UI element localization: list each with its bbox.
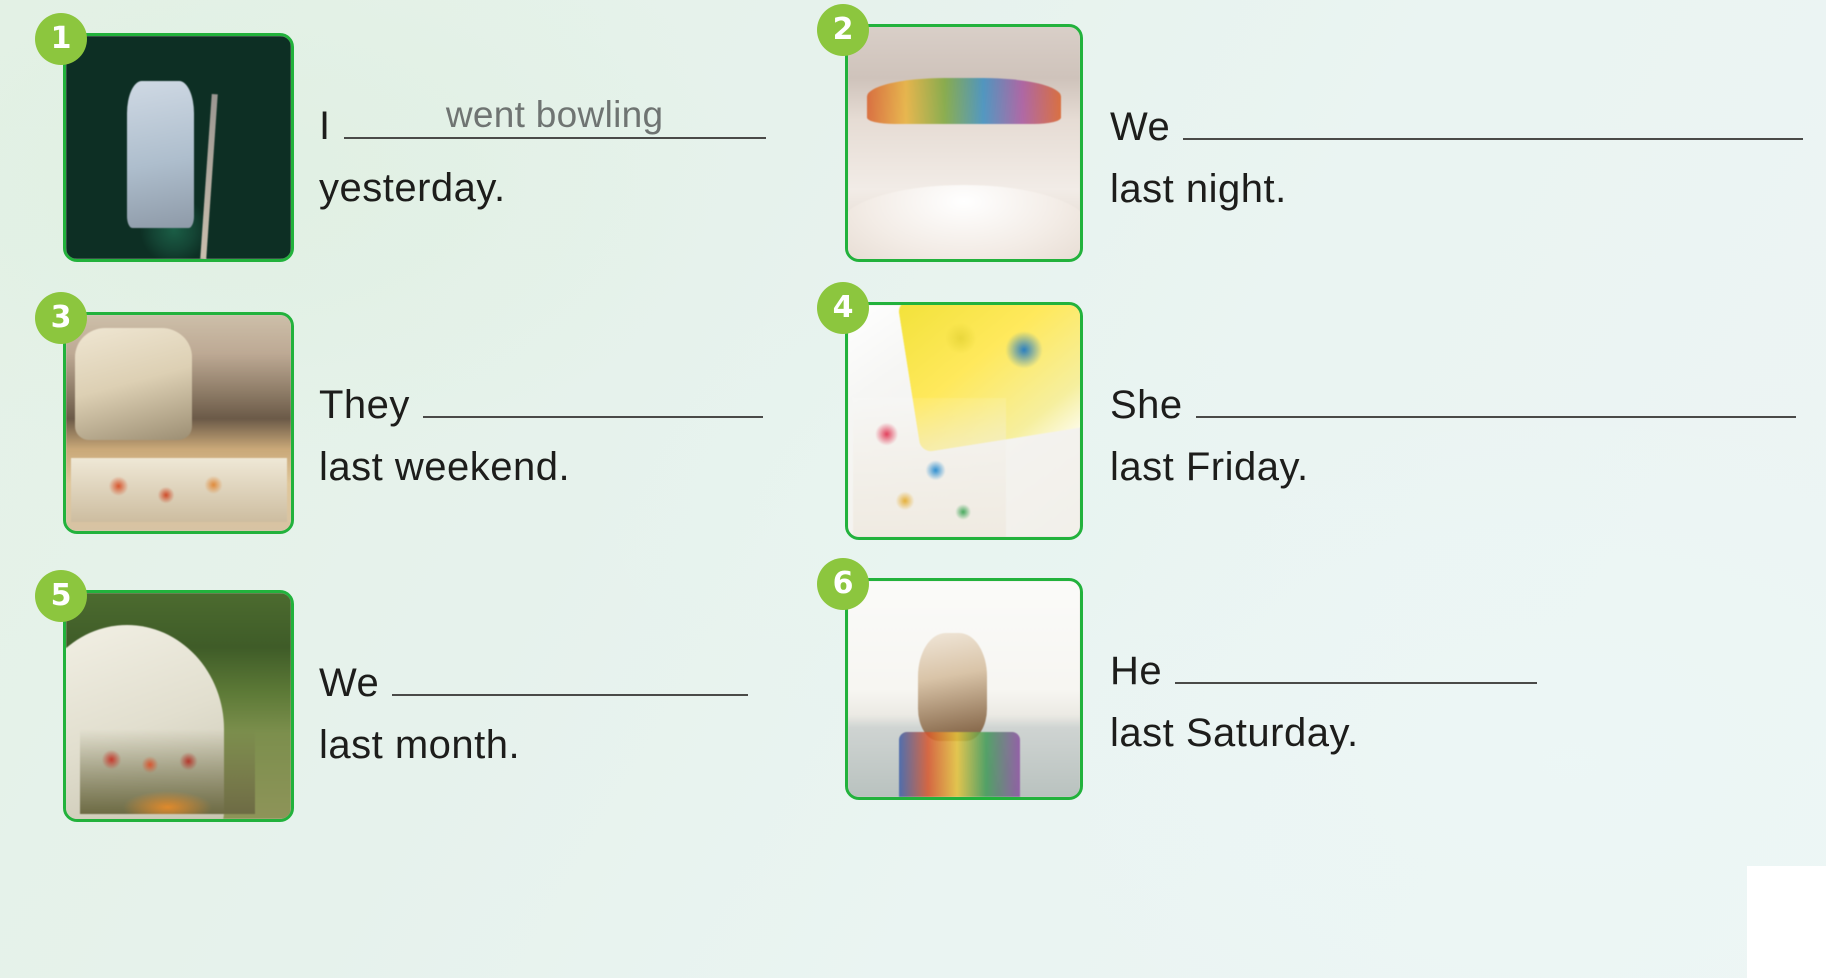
item-number-badge-1: 1 (35, 13, 87, 65)
answer-blank-6[interactable] (1175, 640, 1537, 684)
subject-pronoun-5: We (319, 661, 379, 706)
subject-pronoun-3: They (319, 383, 410, 428)
photo-card-6 (845, 578, 1083, 800)
subject-pronoun-6: He (1110, 649, 1162, 694)
photo-card-wrapper-4: 4 (845, 302, 1083, 540)
photo-card-4 (845, 302, 1083, 540)
photo-card-1 (63, 33, 294, 262)
photo-card-3 (63, 312, 294, 534)
time-phrase-4: last Friday. (1110, 445, 1796, 490)
sentence-4: She last Friday. (1110, 374, 1796, 490)
sentence-line-6a: He (1110, 640, 1537, 694)
answer-text-1: went bowling (344, 94, 766, 136)
answer-blank-1[interactable]: went bowling (344, 95, 766, 139)
sentence-3: They last weekend. (319, 374, 763, 490)
photo-card-5 (63, 590, 294, 822)
photo-card-2 (845, 24, 1083, 262)
sentence-line-4a: She (1110, 374, 1796, 428)
photo-card-wrapper-1: 1 (63, 33, 294, 262)
time-phrase-1: yesterday. (319, 166, 766, 211)
answer-blank-4[interactable] (1196, 374, 1796, 418)
page-corner-notch (1747, 866, 1826, 978)
sentence-1: I went bowling yesterday. (319, 95, 766, 211)
sentence-line-1a: I went bowling (319, 95, 766, 149)
subject-pronoun-1: I (319, 104, 331, 149)
time-phrase-2: last night. (1110, 167, 1803, 212)
photo-card-wrapper-3: 3 (63, 312, 294, 534)
time-phrase-5: last month. (319, 723, 748, 768)
sentence-5: We last month. (319, 652, 748, 768)
answer-blank-5[interactable] (392, 652, 748, 696)
boy-bowling-photo (66, 36, 291, 259)
family-barbecue-photo (66, 315, 291, 531)
item-number-badge-5: 5 (35, 570, 87, 622)
photo-card-wrapper-2: 2 (845, 24, 1083, 262)
item-number-badge-6: 6 (817, 558, 869, 610)
sentence-line-5a: We (319, 652, 748, 706)
girls-sleepover-photo (848, 27, 1080, 259)
photo-card-wrapper-5: 5 (63, 590, 294, 822)
subject-pronoun-4: She (1110, 383, 1183, 428)
answer-blank-2[interactable] (1183, 96, 1803, 140)
sentence-line-3a: They (319, 374, 763, 428)
photo-card-wrapper-6: 6 (845, 578, 1083, 800)
answer-blank-3[interactable] (423, 374, 763, 418)
sentence-line-2a: We (1110, 96, 1803, 150)
item-number-badge-3: 3 (35, 292, 87, 344)
item-number-badge-2: 2 (817, 4, 869, 56)
sentence-2: We last night. (1110, 96, 1803, 212)
boy-playing-guitar-photo (848, 581, 1080, 797)
sentence-6: He last Saturday. (1110, 640, 1537, 756)
worksheet-page: 1 I went bowling yesterday. 2 We (0, 0, 1826, 978)
time-phrase-3: last weekend. (319, 445, 763, 490)
subject-pronoun-2: We (1110, 105, 1170, 150)
family-camping-tent-photo (66, 593, 291, 819)
child-doing-crafts-photo (848, 305, 1080, 537)
item-number-badge-4: 4 (817, 282, 869, 334)
time-phrase-6: last Saturday. (1110, 711, 1537, 756)
